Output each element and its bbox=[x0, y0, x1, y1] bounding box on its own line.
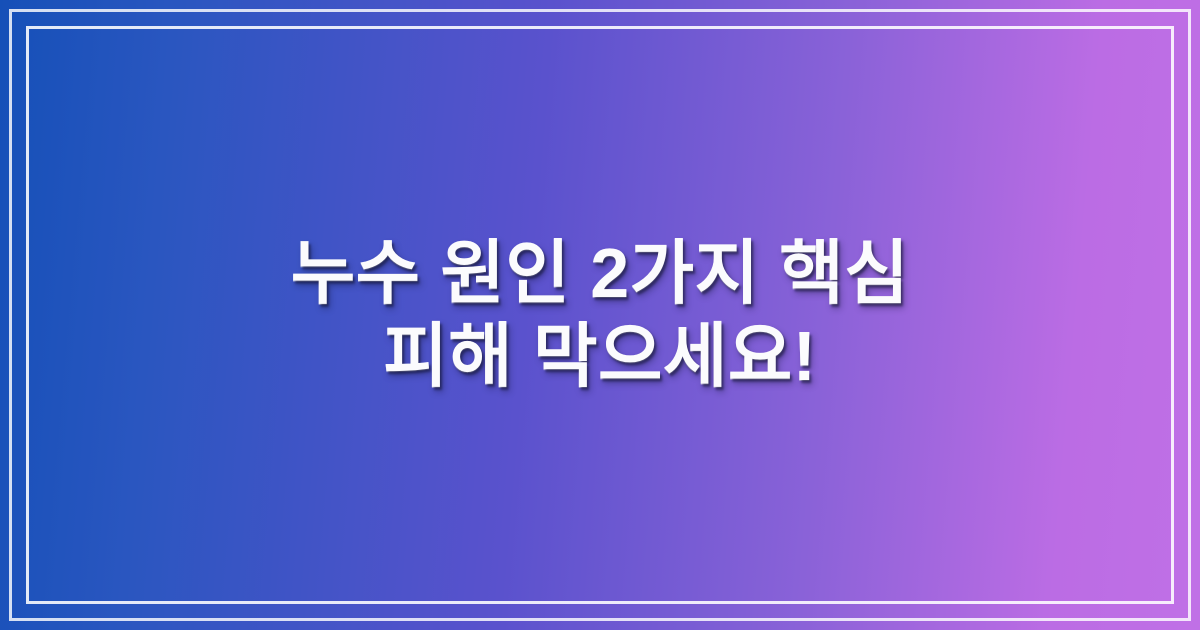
banner-title-line-1: 누수 원인 2가지 핵심 bbox=[291, 232, 909, 315]
promo-banner: 누수 원인 2가지 핵심 피해 막으세요! bbox=[0, 0, 1200, 630]
banner-title-block: 누수 원인 2가지 핵심 피해 막으세요! bbox=[0, 0, 1200, 630]
banner-title-line-2: 피해 막으세요! bbox=[383, 315, 816, 398]
